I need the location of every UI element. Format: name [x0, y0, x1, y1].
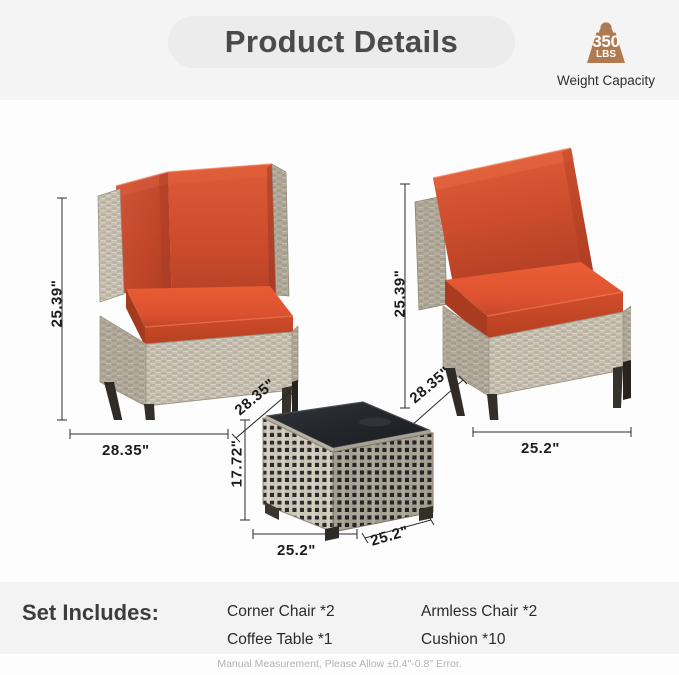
corner-chair-dimension-lines [40, 120, 330, 420]
diagram-area: 25.39" 28.35" 28.35" [0, 100, 679, 575]
set-item-armless-chair: Armless Chair *2 [421, 603, 537, 621]
weight-icon: 350 LBS [579, 16, 633, 70]
set-item-cushion: Cushion *10 [421, 631, 505, 649]
set-item-corner-chair: Corner Chair *2 [227, 603, 335, 621]
header: Product Details 350 LBS Weight Capacity [0, 0, 679, 100]
weight-unit: LBS [579, 50, 633, 60]
set-includes-title: Set Includes: [22, 600, 159, 626]
page-title: Product Details [225, 24, 458, 60]
measurement-disclaimer: Manual Measurement, Please Allow ±0.4"-0… [0, 658, 679, 670]
weight-capacity-badge: 350 LBS Weight Capacity [540, 16, 672, 94]
set-item-coffee-table: Coffee Table *1 [227, 631, 332, 649]
title-pill: Product Details [168, 16, 515, 68]
corner-chair-height-label: 25.39" [49, 269, 66, 339]
weight-caption: Weight Capacity [557, 73, 655, 88]
set-includes-panel: Set Includes: Corner Chair *2 Armless Ch… [0, 582, 679, 654]
armless-chair-height-label: 25.39" [392, 259, 409, 329]
product-details-infographic: Product Details 350 LBS Weight Capacity [0, 0, 679, 675]
armless-chair-figure: 25.39" 28.35" 25.2" [385, 120, 675, 420]
corner-chair-figure: 25.39" 28.35" 28.35" [40, 120, 330, 420]
corner-chair-width-label: 28.35" [102, 442, 150, 459]
armless-chair-width-label: 25.2" [521, 440, 560, 457]
coffee-table-height-label: 17.72" [229, 429, 246, 499]
weight-value: 350 [579, 33, 633, 50]
coffee-table-width-label: 25.2" [277, 542, 316, 559]
coffee-table-figure: 17.72" 25.2" 25.2" [205, 392, 465, 552]
